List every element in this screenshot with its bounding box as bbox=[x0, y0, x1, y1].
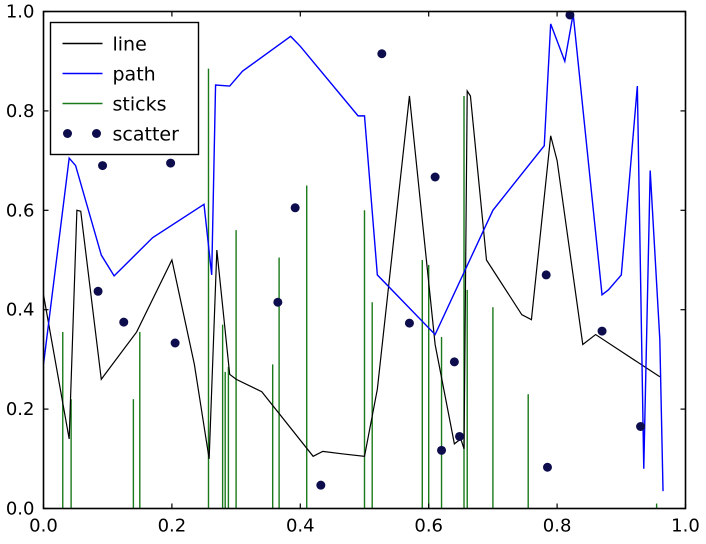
figure-canvas: 0.00.20.40.60.81.00.00.20.40.60.81.0 lin… bbox=[0, 0, 706, 544]
x-tick-label: 0.6 bbox=[414, 516, 443, 537]
legend-swatch-marker bbox=[63, 129, 72, 138]
scatter-point bbox=[273, 298, 282, 307]
legend-entry-label-path: path bbox=[113, 64, 156, 86]
scatter-point bbox=[437, 446, 446, 455]
scatter-point bbox=[98, 161, 107, 170]
scatter-point bbox=[119, 318, 128, 327]
scatter-point bbox=[377, 49, 386, 58]
scatter-point bbox=[316, 481, 325, 490]
scatter-point bbox=[455, 432, 464, 441]
chart-plot: 0.00.20.40.60.81.00.00.20.40.60.81.0 lin… bbox=[0, 0, 706, 544]
legend-entry-label-sticks: sticks bbox=[113, 94, 167, 116]
scatter-point bbox=[171, 339, 180, 348]
scatter-point bbox=[636, 422, 645, 431]
x-tick-label: 1.0 bbox=[671, 516, 700, 537]
scatter-point bbox=[291, 203, 300, 212]
y-tick-label: 1.0 bbox=[6, 2, 35, 23]
x-tick-label: 0.4 bbox=[286, 516, 315, 537]
legend-swatch-marker bbox=[92, 129, 101, 138]
scatter-point bbox=[542, 270, 551, 279]
legend-entry-label-scatter: scatter bbox=[113, 124, 180, 146]
y-tick-label: 0.6 bbox=[6, 200, 35, 221]
x-tick-label: 0.8 bbox=[543, 516, 572, 537]
legend-entry-label-line: line bbox=[113, 34, 147, 56]
legend: linepathsticksscatter bbox=[51, 23, 199, 155]
y-tick-label: 0.8 bbox=[6, 101, 35, 122]
y-tick-label: 0.2 bbox=[6, 399, 35, 420]
x-tick-label: 0.2 bbox=[158, 516, 187, 537]
scatter-point bbox=[166, 159, 175, 168]
scatter-point bbox=[94, 287, 103, 296]
scatter-point bbox=[450, 357, 459, 366]
scatter-point bbox=[543, 463, 552, 472]
y-tick-label: 0.0 bbox=[6, 499, 35, 520]
scatter-point bbox=[598, 327, 607, 336]
scatter-point bbox=[405, 319, 414, 328]
scatter-point bbox=[431, 173, 440, 182]
y-tick-label: 0.4 bbox=[6, 300, 35, 321]
